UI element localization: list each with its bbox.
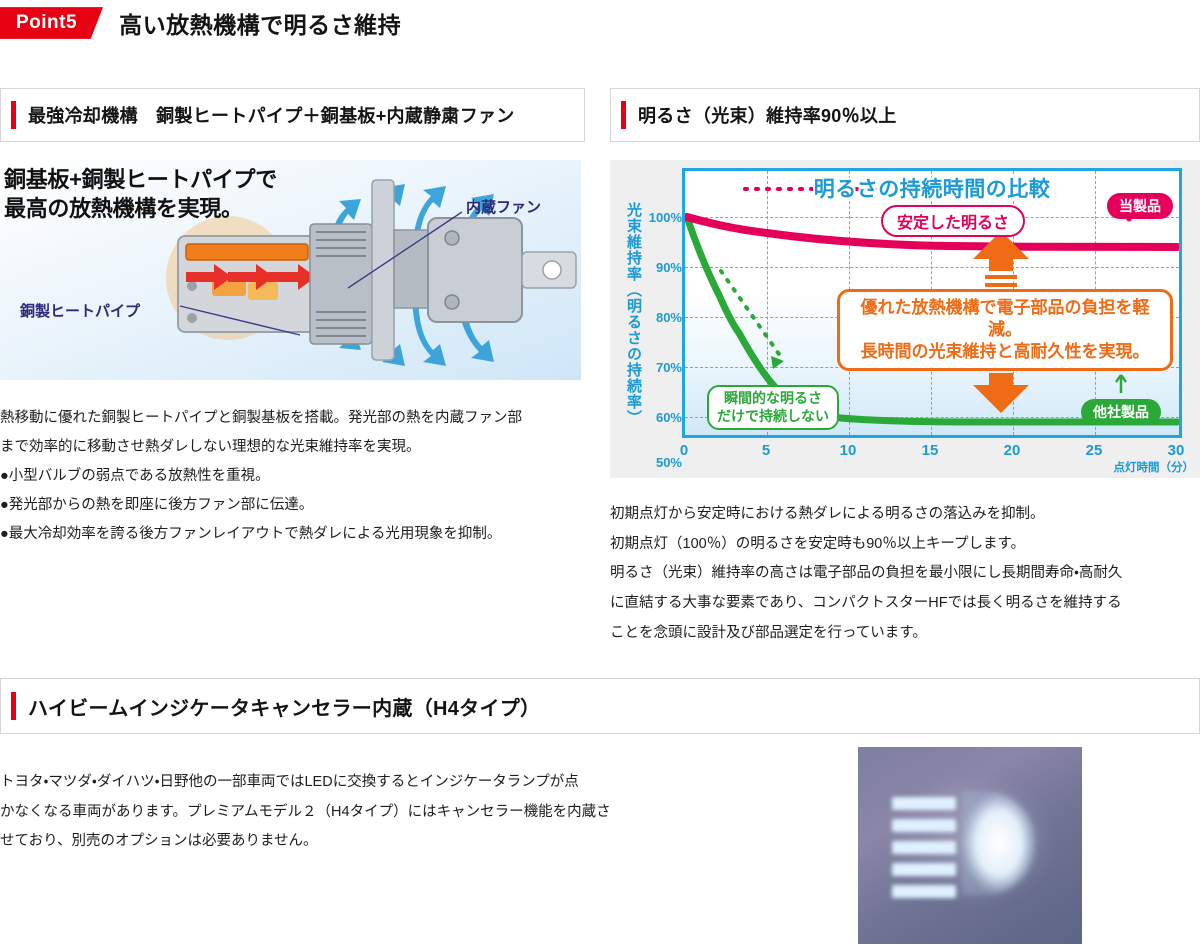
brightness-description: 初期点灯から安定時における熱ダレによる明るさの落込みを抑制。 初期点灯（100％…	[610, 500, 1200, 649]
body-line: 熱移動に優れた銅製ヒートパイプと銅製基板を搭載。発光部の熱を内蔵ファン部	[0, 404, 590, 433]
page-title: 高い放熱機構で明るさ維持	[119, 6, 401, 40]
annotation-momentary-note: 瞬間的な明るさ だけで持続しない	[707, 385, 839, 430]
y-tick: 80%	[634, 310, 682, 325]
section-header-label: 最強冷却機構 銅製ヒートパイプ＋銅基板+内蔵静粛ファン	[28, 102, 515, 128]
body-line: かなくなる車両があります。プレミアムモデル２（H4タイプ）にはキャンセラー機能を…	[0, 798, 690, 828]
body-line: 初期点灯（100％）の明るさを安定時も90％以上キープします。	[610, 530, 1200, 560]
body-line: せており、別売のオプションは必要ありません。	[0, 827, 690, 857]
chart-plot-area: 明るさの持続時間の比較	[682, 168, 1182, 438]
accent-bar	[11, 692, 16, 720]
high-beam-indicator-icon	[858, 747, 1082, 944]
high-beam-indicator-photo	[858, 747, 1082, 944]
legend-badge-other: 他社製品	[1081, 399, 1161, 425]
bullet-item: ●小型バルブの弱点である放熱性を重視。	[0, 462, 590, 491]
cooling-description: 熱移動に優れた銅製ヒートパイプと銅製基板を搭載。発光部の熱を内蔵ファン部 まで効…	[0, 404, 590, 549]
y-tick: 60%	[634, 410, 682, 425]
copper-heat-pipe	[186, 244, 308, 260]
bullet-item: ●最大冷却効率を誇る後方ファンレイアウトで熱ダレによる光用現象を抑制。	[0, 520, 590, 549]
y-tick: 50%	[634, 455, 682, 470]
y-tick: 90%	[634, 260, 682, 275]
bulb-illustration-panel: 銅基板+銅製ヒートパイプで 最高の放熱機構を実現。 内蔵ファン 銅製ヒートパイプ	[0, 160, 581, 380]
x-tick: 25	[1086, 442, 1103, 459]
section-header-label: 明るさ（光束）維持率90％以上	[638, 102, 897, 128]
chart-x-axis-label: 点灯時間（分）	[1114, 459, 1195, 475]
label-copper-heat-pipe: 銅製ヒートパイプ	[20, 300, 140, 321]
point-header: Point5 高い放熱機構で明るさ維持	[0, 6, 401, 40]
annotation-stable-brightness: 安定した明るさ	[881, 205, 1025, 237]
x-tick: 20	[1004, 442, 1021, 459]
rear-fan-housing	[428, 218, 522, 322]
canceller-description: トヨタ・マツダ・ダイハツ・日野他の一部車両ではLEDに交換するとインジケータラン…	[0, 768, 690, 857]
heat-sink	[310, 224, 372, 344]
body-line: 初期点灯から安定時における熱ダレによる明るさの落込みを抑制。	[610, 500, 1200, 530]
label-internal-fan: 内蔵ファン	[466, 196, 541, 217]
section-header-cooling: 最強冷却機構 銅製ヒートパイプ＋銅基板+内蔵静粛ファン	[0, 88, 585, 142]
section-header-brightness: 明るさ（光束）維持率90％以上	[610, 88, 1200, 142]
legend-badge-ours: 当製品	[1107, 193, 1173, 219]
x-tick: 30	[1168, 442, 1185, 459]
x-tick: 15	[922, 442, 939, 459]
accent-bar	[11, 101, 16, 129]
x-tick: 5	[762, 442, 770, 459]
x-tick: 10	[840, 442, 857, 459]
y-tick: 100%	[634, 210, 682, 225]
chart-y-ticks: 100% 90% 80% 70% 60% 50%	[632, 160, 682, 460]
body-line: に直結する大事な要素であり、コンパクトスターHFでは長く明るさを維持する	[610, 589, 1200, 619]
body-line: 明るさ（光束）維持率の高さは電子部品の負担を最小限にし長期間寿命・高耐久	[610, 559, 1200, 589]
x-tick: 0	[680, 442, 688, 459]
chart-title: 明るさの持続時間の比較	[685, 173, 1179, 203]
section-header-label: ハイビームインジケータキャンセラー内蔵（H4タイプ）	[28, 692, 540, 721]
body-line: まで効率的に移動させ熱ダレしない理想的な光束維持率を実現。	[0, 433, 590, 462]
accent-bar	[621, 101, 626, 129]
bullet-item: ●発光部からの熱を即座に後方ファン部に伝達。	[0, 491, 590, 520]
point-badge: Point5	[0, 7, 103, 39]
annotation-heat-benefit: 優れた放熱機構で電子部品の負担を軽減。 長時間の光束維持と高耐久性を実現。	[837, 289, 1173, 371]
illustration-title: 銅基板+銅製ヒートパイプで 最高の放熱機構を実現。	[4, 166, 277, 223]
body-line: ことを念頭に設計及び部品選定を行っています。	[610, 619, 1200, 649]
section-header-canceller: ハイビームインジケータキャンセラー内蔵（H4タイプ）	[0, 678, 1200, 734]
y-tick: 70%	[634, 360, 682, 375]
other-pointer-icon	[1116, 375, 1126, 393]
brightness-retention-chart: 光束維持率（明るさの持続率） 100% 90% 80% 70% 60% 50% …	[610, 160, 1200, 478]
body-line: トヨタ・マツダ・ダイハツ・日野他の一部車両ではLEDに交換するとインジケータラン…	[0, 768, 690, 798]
